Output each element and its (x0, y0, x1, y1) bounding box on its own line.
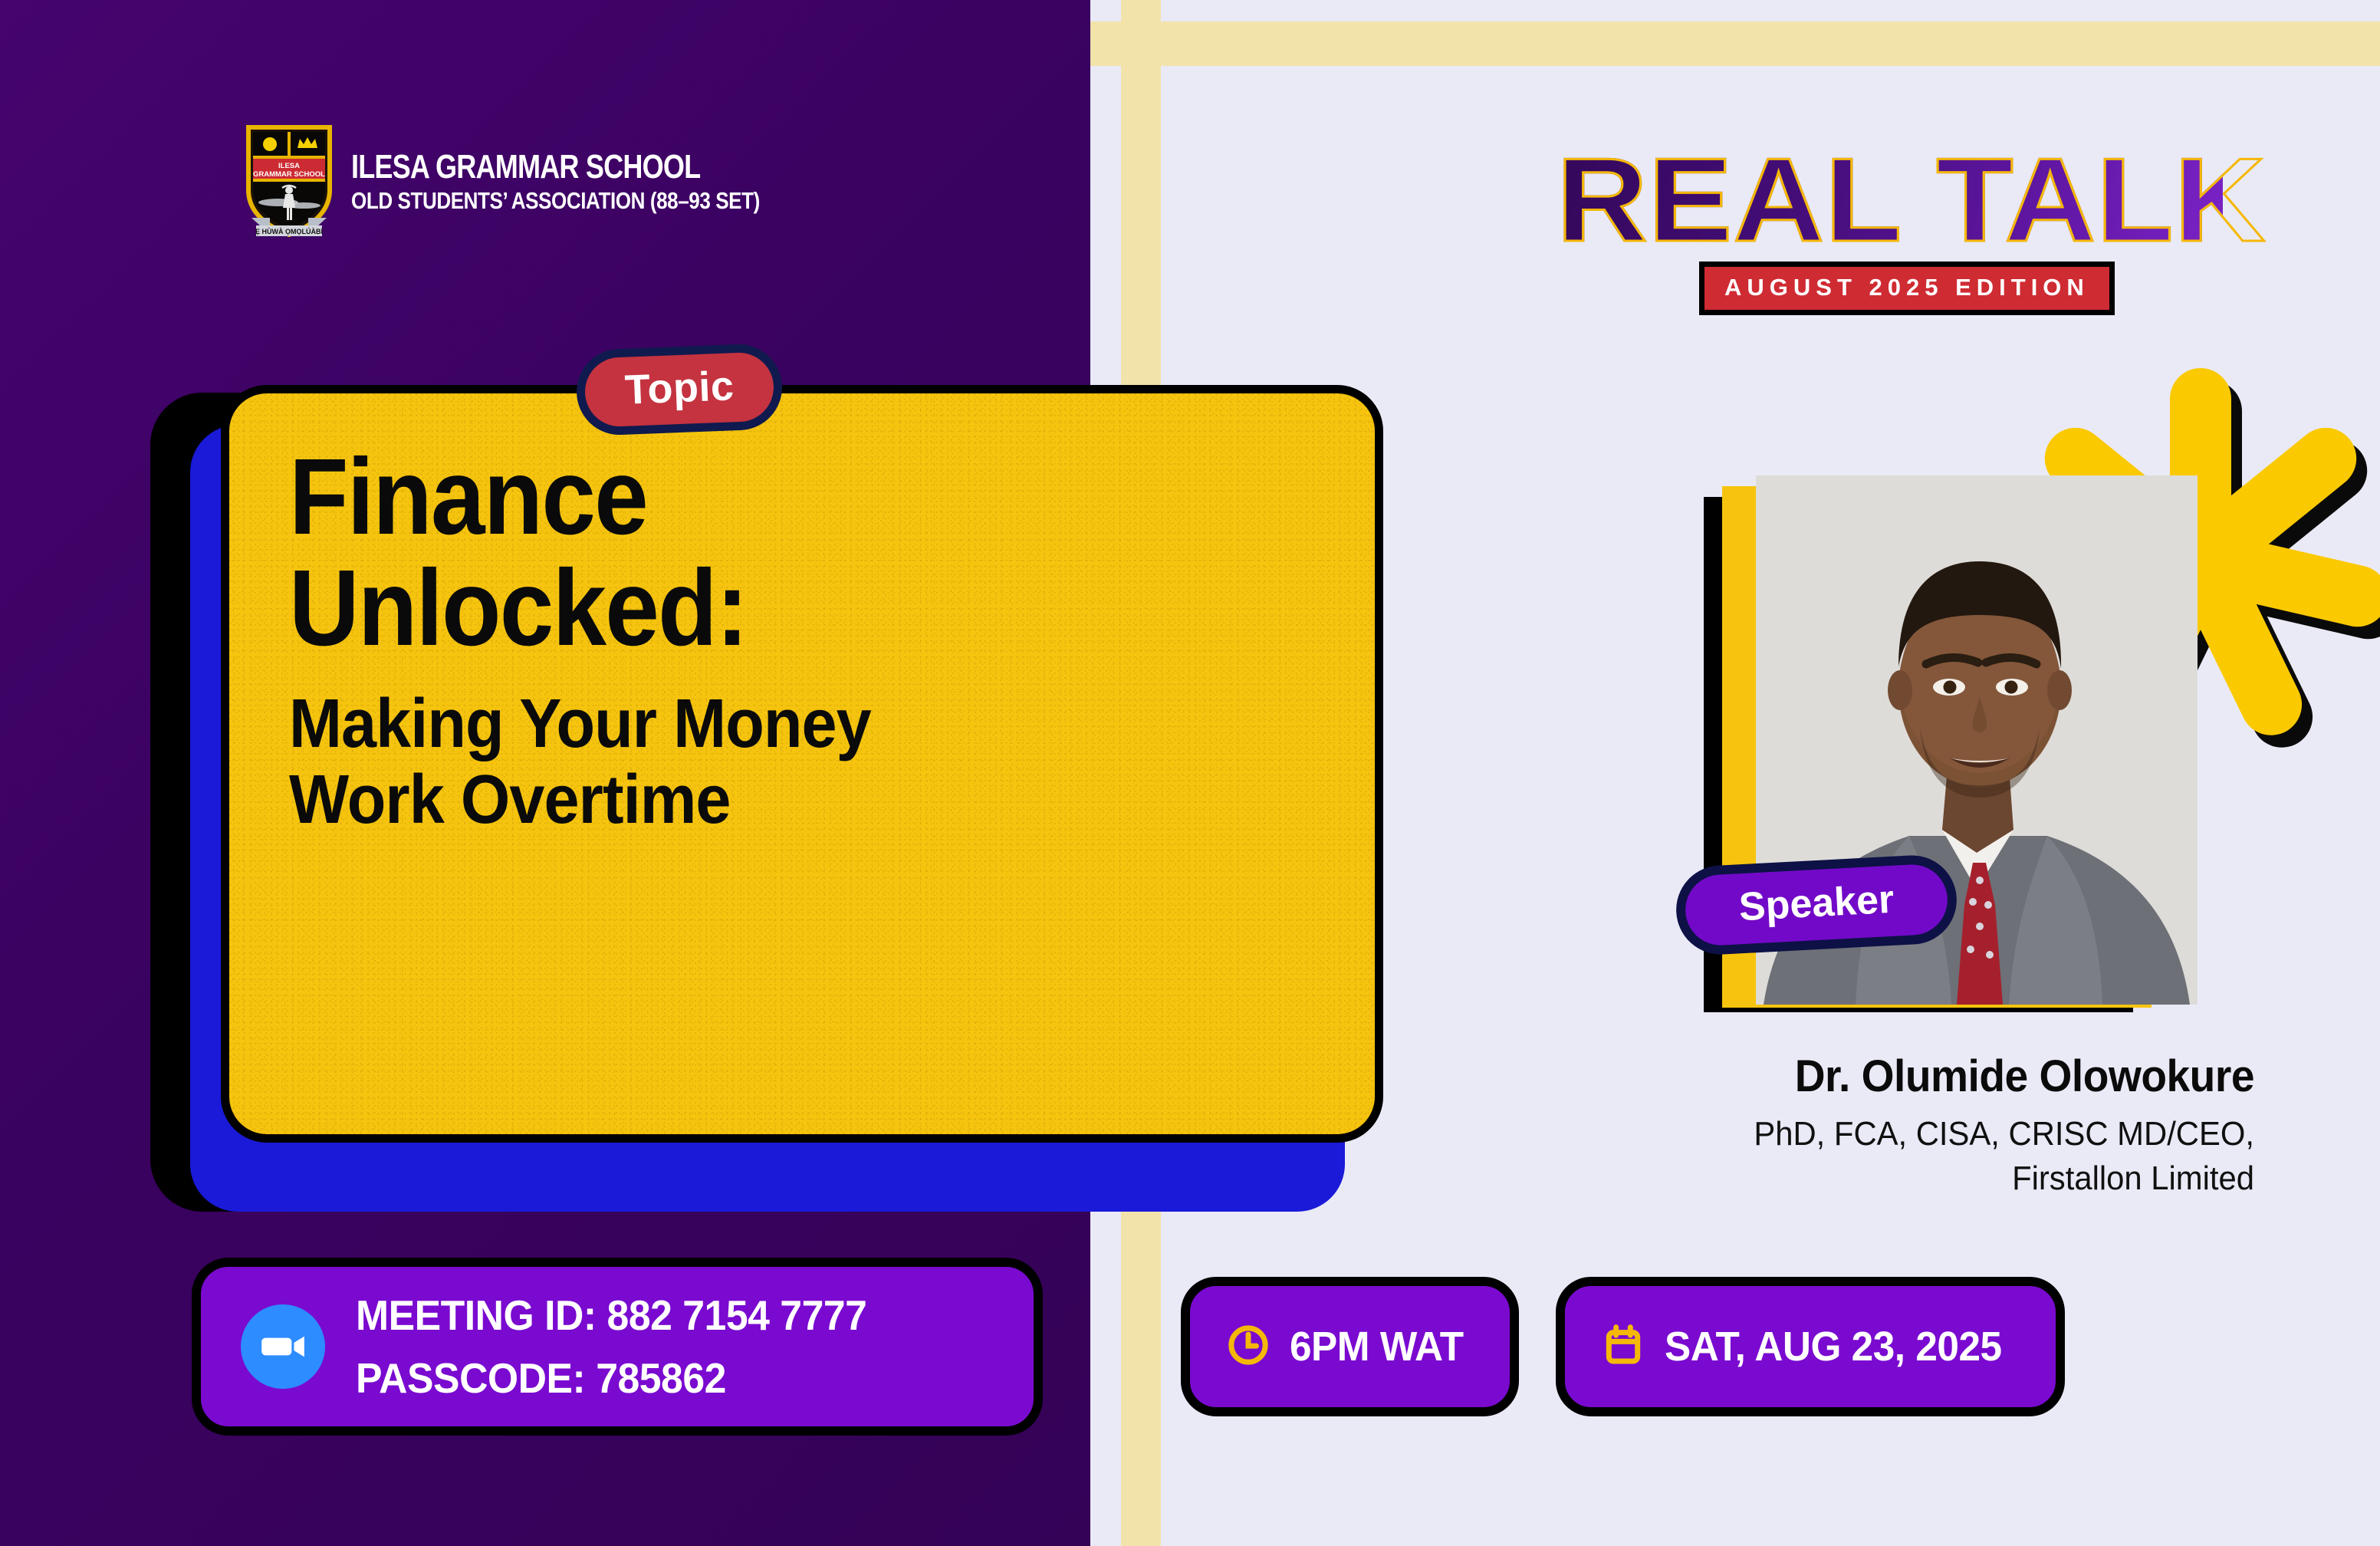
speaker-credentials-line2: Firstallon Limited (1613, 1156, 2254, 1201)
clock-icon (1227, 1324, 1270, 1370)
speaker-badge: Speaker (1674, 853, 1959, 956)
calendar-icon (1602, 1324, 1645, 1370)
topic-subheadline-line1: Making Your Money (289, 686, 1247, 762)
svg-text:ILESA: ILESA (278, 162, 300, 170)
speaker-credentials: PhD, FCA, CISA, CRISC MD/CEO, Firstallon… (1613, 1112, 2254, 1201)
topic-headline-line2: Unlocked: (289, 552, 1226, 663)
meeting-id: MEETING ID: 882 7154 7777 (356, 1284, 866, 1347)
edition-badge: AUGUST 2025 EDITION (1699, 262, 2115, 315)
topic-badge-label: Topic (624, 363, 735, 413)
date-pill: SAT, AUG 23, 2025 (1556, 1277, 2066, 1416)
event-logo: REAL TALK AUGUST 2025 EDITION (1557, 146, 2185, 315)
speaker-credentials-line1: PhD, FCA, CISA, CRISC MD/CEO, (1613, 1112, 2254, 1156)
speaker-name: Dr. Olumide Olowokure (1613, 1051, 2254, 1102)
brand-text: ILESA GRAMMAR SCHOOL OLD STUDENTS’ ASSOC… (351, 147, 837, 212)
brand-lockup: ILESA GRAMMAR SCHOOL Ẹ HÙWÀ ỌMỌLÚÀBÍ ILE… (244, 123, 837, 238)
school-crest-icon: ILESA GRAMMAR SCHOOL Ẹ HÙWÀ ỌMỌLÚÀBÍ (244, 123, 334, 238)
topic-headline-line1: Finance (289, 441, 1226, 552)
event-flyer: ILESA GRAMMAR SCHOOL Ẹ HÙWÀ ỌMỌLÚÀBÍ ILE… (0, 0, 2380, 1546)
event-title: REAL TALK (1557, 146, 2223, 255)
topic-headline: Finance Unlocked: (289, 441, 1226, 663)
zoom-video-icon (241, 1304, 325, 1389)
edition-badge-label: AUGUST 2025 EDITION (1724, 274, 2089, 301)
meeting-passcode: PASSCODE: 785862 (356, 1347, 866, 1410)
crest-motto: Ẹ HÙWÀ ỌMỌLÚÀBÍ (255, 227, 323, 235)
topic-card: Finance Unlocked: Making Your Money Work… (221, 385, 1383, 1143)
time-label: 6PM WAT (1290, 1323, 1464, 1370)
event-details-row: 6PM WAT SAT, AUG 23, 2025 (1181, 1277, 2065, 1416)
time-pill: 6PM WAT (1181, 1277, 1519, 1416)
speaker-badge-label: Speaker (1738, 877, 1895, 930)
topic-badge: Topic (575, 343, 784, 436)
meeting-text: MEETING ID: 882 7154 7777 PASSCODE: 7858… (356, 1284, 899, 1410)
school-name: ILESA GRAMMAR SCHOOL (351, 150, 750, 185)
meeting-info-bar: MEETING ID: 882 7154 7777 PASSCODE: 7858… (192, 1258, 1043, 1436)
association-name: OLD STUDENTS’ ASSOCIATION (88–93 SET) (351, 189, 760, 213)
svg-text:GRAMMAR SCHOOL: GRAMMAR SCHOOL (253, 170, 325, 179)
date-label: SAT, AUG 23, 2025 (1665, 1323, 2002, 1370)
topic-subheadline: Making Your Money Work Overtime (289, 686, 1247, 838)
topic-subheadline-line2: Work Overtime (289, 762, 1247, 838)
